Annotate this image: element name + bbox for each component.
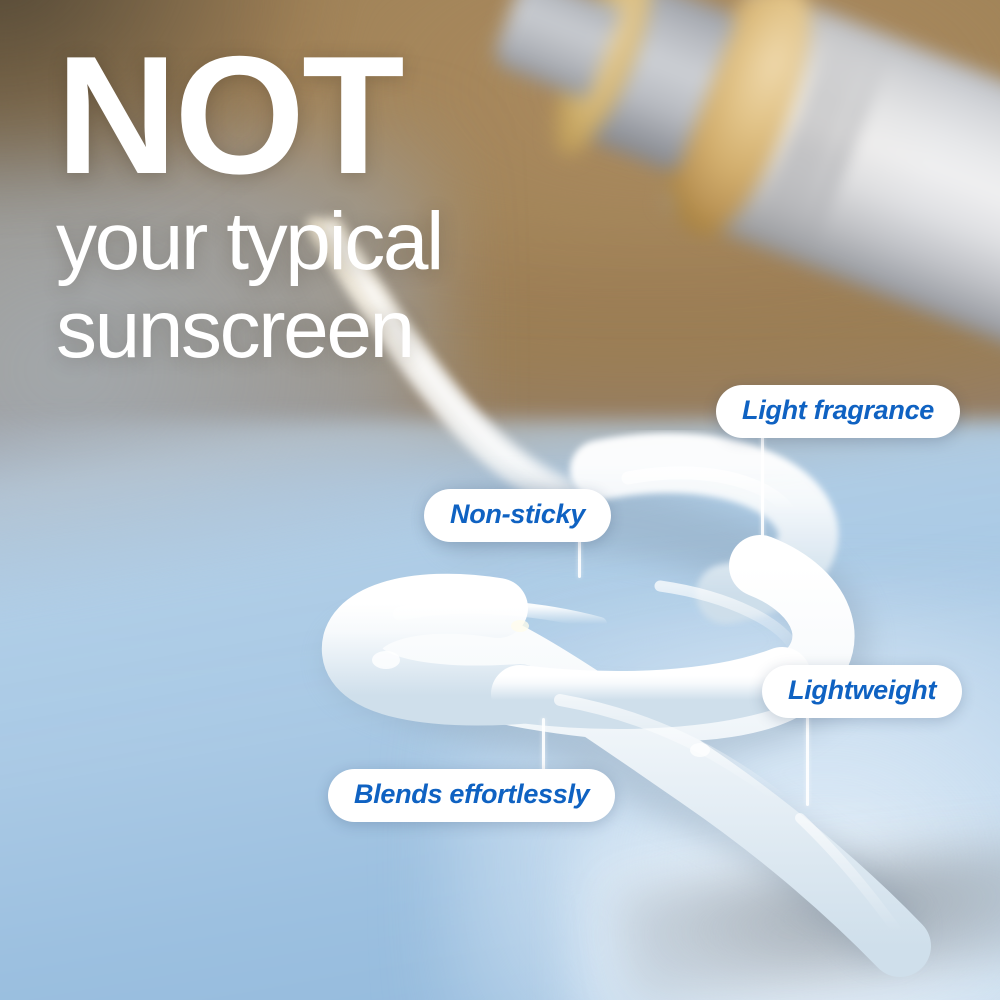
- advertisement-canvas: NOT your typical sunscreen Light fragran…: [0, 0, 1000, 1000]
- leader-line-light-fragrance: [761, 434, 764, 550]
- headline-line-1: NOT: [56, 42, 576, 190]
- callout-label: Light fragrance: [742, 395, 934, 425]
- leader-line-non-sticky: [578, 538, 581, 578]
- leader-line-lightweight: [806, 716, 809, 806]
- callout-lightweight[interactable]: Lightweight: [762, 665, 962, 718]
- leader-line-blends-effortlessly: [542, 718, 545, 772]
- callout-label: Blends effortlessly: [354, 779, 589, 809]
- callout-label: Non-sticky: [450, 499, 585, 529]
- callout-non-sticky[interactable]: Non-sticky: [424, 489, 611, 542]
- callout-label: Lightweight: [788, 675, 936, 705]
- headline-subtext: your typical sunscreen: [56, 198, 576, 375]
- callout-blends-effortlessly[interactable]: Blends effortlessly: [328, 769, 615, 822]
- callout-light-fragrance[interactable]: Light fragrance: [716, 385, 960, 438]
- headline-line-3: sunscreen: [56, 286, 576, 375]
- headline: NOT your typical sunscreen: [56, 42, 576, 375]
- headline-line-2: your typical: [56, 198, 576, 287]
